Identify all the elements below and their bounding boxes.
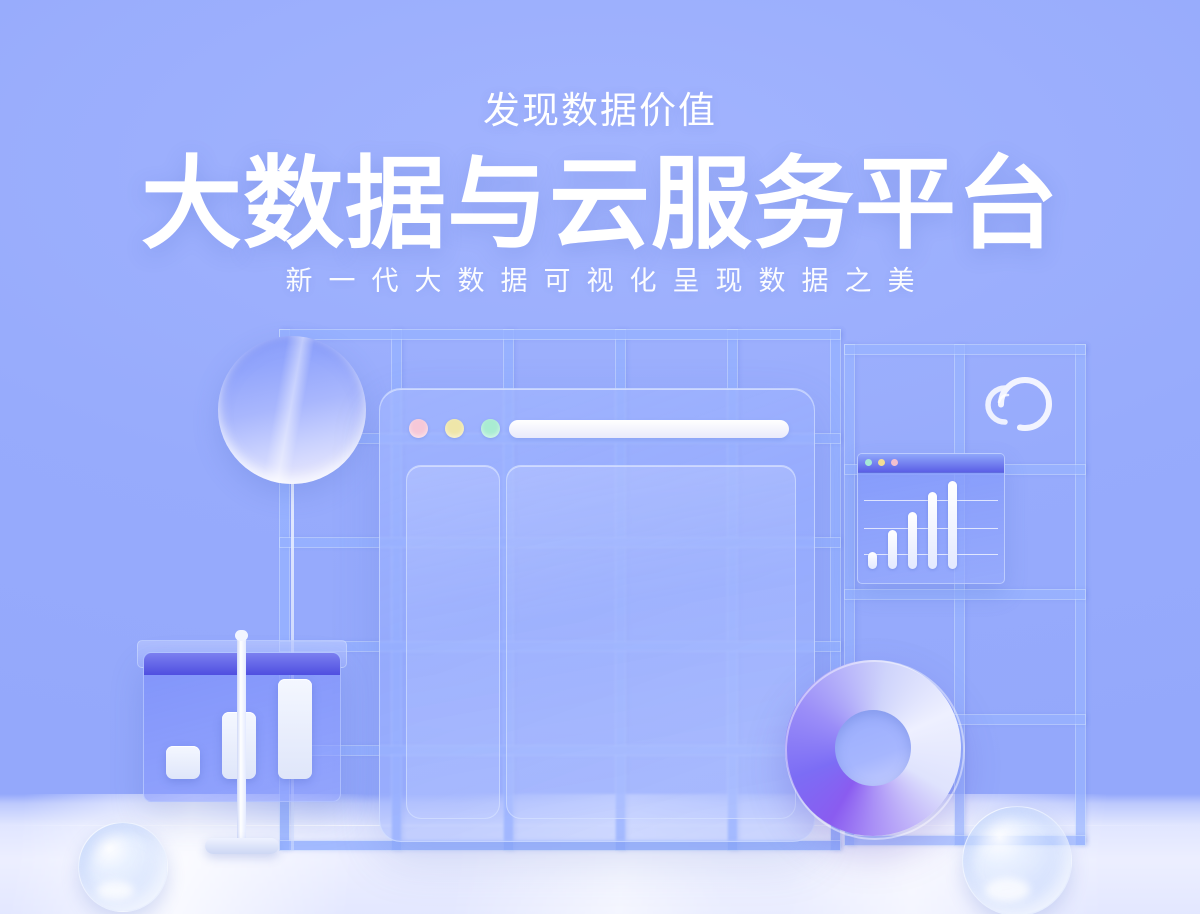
- glass-disc: [218, 336, 366, 484]
- window-traffic-lights: [409, 419, 500, 438]
- maximize-dot-icon[interactable]: [481, 419, 500, 438]
- mini-chart-bar: [888, 530, 897, 569]
- mini-window-title-bar: [858, 454, 1004, 473]
- mini-chart-bar: [928, 492, 937, 569]
- stand-pole: [237, 634, 246, 846]
- sidebar-pane[interactable]: [406, 465, 500, 819]
- hero-banner: 发现数据价值 大数据与云服务平台 新一代大数据可视化呈现数据之美: [0, 0, 1200, 914]
- mini-chart-bar: [868, 552, 877, 569]
- mini-maximize-dot-icon[interactable]: [865, 459, 872, 466]
- hero-text-block: 发现数据价值 大数据与云服务平台 新一代大数据可视化呈现数据之美: [0, 0, 1200, 295]
- hero-eyebrow: 发现数据价值: [0, 92, 1200, 129]
- stand-base: [205, 838, 279, 854]
- cloud-icon: [975, 362, 1059, 434]
- glass-sphere-right: [962, 806, 1072, 914]
- mini-minimize-dot-icon[interactable]: [878, 459, 885, 466]
- mini-chart-bar: [948, 481, 957, 569]
- mini-close-dot-icon[interactable]: [891, 459, 898, 466]
- address-bar-input[interactable]: [509, 420, 789, 438]
- glass-sphere-left: [78, 822, 168, 912]
- bar-card-bar: [166, 746, 200, 779]
- content-pane[interactable]: [506, 465, 796, 819]
- bar-card-bar: [278, 679, 312, 779]
- browser-window[interactable]: [379, 388, 815, 842]
- minimize-dot-icon[interactable]: [445, 419, 464, 438]
- stand-pole-cap: [235, 630, 248, 641]
- mini-chart-bar: [908, 512, 917, 569]
- page-title: 大数据与云服务平台: [0, 153, 1200, 258]
- close-dot-icon[interactable]: [409, 419, 428, 438]
- donut-ring-rim: [785, 660, 965, 840]
- mini-chart-bars: [868, 477, 996, 569]
- mini-chart-window[interactable]: [857, 453, 1005, 584]
- hero-subtitle: 新一代大数据可视化呈现数据之美: [0, 268, 1200, 295]
- mini-window-traffic-lights: [865, 459, 898, 466]
